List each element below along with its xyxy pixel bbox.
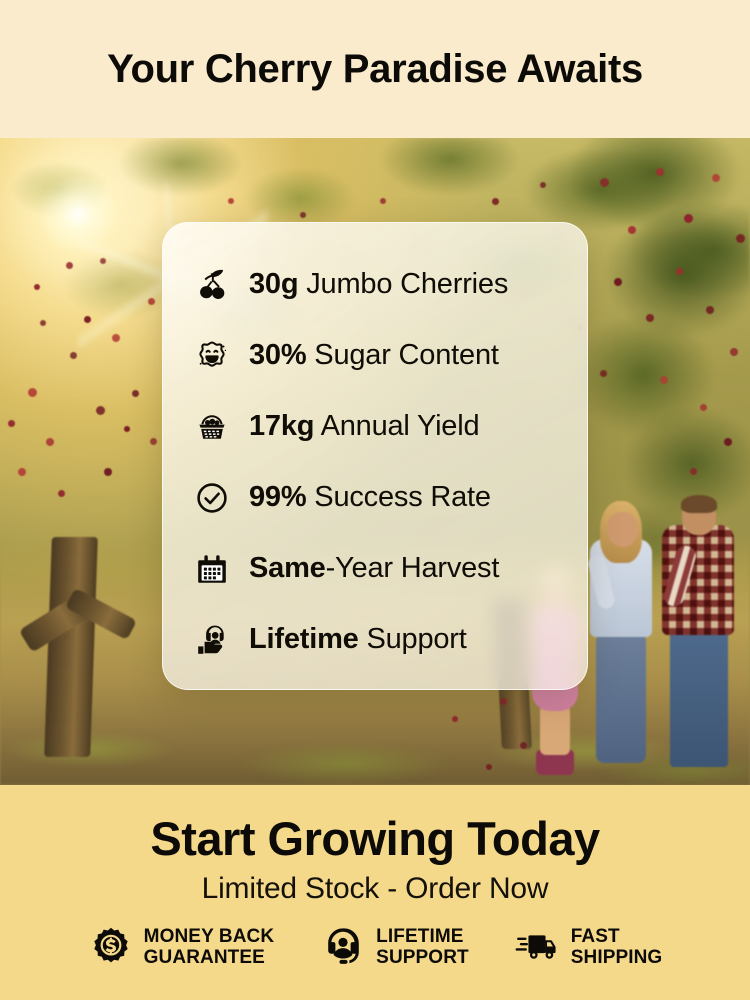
cherry-dot [40,320,46,326]
badge-label: LIFETIME SUPPORT [376,926,469,969]
money-badge-icon [88,924,134,970]
headset-icon [320,924,366,970]
badge-line1: FAST [571,926,620,947]
cherry-dot [492,198,499,205]
cherry-dot [730,348,738,356]
badge-line1: LIFETIME [376,926,463,947]
woman-head [607,512,638,547]
feature-label: Jumbo Cherries [298,268,508,300]
badge-line2: SHIPPING [571,947,663,968]
cherry-dot [34,284,40,290]
cherry-dot [452,716,458,722]
cherry-dot [486,764,492,770]
badge-lifetime-support: LIFETIME SUPPORT [320,924,469,970]
cherry-dot [724,438,732,446]
badge-line2: SUPPORT [376,947,469,968]
cherry-dot [520,742,527,749]
feature-text: 30g Jumbo Cherries [249,268,508,301]
smiling-cookie-icon [189,333,235,379]
cherry-dot [112,334,120,342]
cta-subtitle: Limited Stock - Order Now [202,872,549,906]
woman-legs [596,633,646,763]
feature-text: Same-Year Harvest [249,552,499,585]
feature-value: 30% [249,339,306,371]
cherry-dot [684,214,693,223]
cherry-dot [300,212,306,218]
cherry-dot [66,262,73,269]
cherry-dot [540,182,546,188]
cherry-dot [600,370,607,377]
feature-value: Lifetime [249,623,359,655]
cherry-dot [70,352,77,359]
cherry-dot [628,226,636,234]
feature-row-jumbo-cherries: 30g Jumbo Cherries [163,249,587,320]
feature-panel: 30g Jumbo Cherries [162,222,588,690]
cta-band: Start Growing Today Limited Stock - Orde… [0,785,750,1000]
cherry-dot [660,376,668,384]
cherry-dot [18,468,26,476]
cherry-dot [148,298,155,305]
trust-badges: MONEY BACK GUARANTEE LIFETIME SUPPORT [0,924,750,970]
cherries-icon [189,262,235,308]
man-legs [670,627,728,767]
cherry-dot [58,490,65,497]
cherry-dot [656,168,664,176]
orchard-photo: 30g Jumbo Cherries [0,138,750,785]
feature-row-lifetime-support: Lifetime Support [163,604,587,675]
cherry-dot [132,390,139,397]
cherry-dot [124,426,130,432]
check-circle-icon [189,475,235,521]
cherry-dot [700,404,707,411]
cherry-dot [614,278,622,286]
page-title: Your Cherry Paradise Awaits [107,47,643,92]
feature-value: 30g [249,268,298,300]
cherry-dot [380,198,386,204]
cherry-dot [8,420,15,427]
cherry-dot [28,388,37,397]
calendar-icon [189,546,235,592]
badge-label: FAST SHIPPING [571,926,663,969]
child-legs [540,705,570,755]
tree-trunk [44,537,98,757]
feature-row-success-rate: 99% Success Rate [163,462,587,533]
promo-poster: Your Cherry Paradise Awaits [0,0,750,1000]
cherry-dot [150,438,157,445]
support-hand-icon [189,617,235,663]
cherry-dot [100,258,106,264]
feature-label: Sugar Content [306,339,498,371]
cherry-dot [600,178,609,187]
feature-list: 30g Jumbo Cherries [163,249,587,675]
feature-value: 99% [249,481,306,513]
cherry-dot [84,316,91,323]
feature-label: Support [359,623,467,655]
badge-money-back-guarantee: MONEY BACK GUARANTEE [88,924,275,970]
badge-line2: GUARANTEE [144,947,275,968]
cherry-dot [104,468,112,476]
feature-text: 99% Success Rate [249,481,491,514]
feature-label: -Year Harvest [326,552,500,584]
fruit-basket-icon [189,404,235,450]
cherry-dot [500,698,507,705]
badge-fast-shipping: FAST SHIPPING [515,924,663,970]
feature-row-annual-yield: 17kg Annual Yield [163,391,587,462]
delivery-truck-icon [515,924,561,970]
badge-label: MONEY BACK GUARANTEE [144,926,275,969]
feature-row-sugar-content: 30% Sugar Content [163,320,587,391]
badge-line1: MONEY BACK [144,926,275,947]
feature-text: 17kg Annual Yield [249,410,479,443]
header-band: Your Cherry Paradise Awaits [0,0,750,138]
feature-value: Same [249,552,326,584]
cherry-dot [712,174,720,182]
cherry-dot [706,306,714,314]
man-hair [681,495,717,513]
feature-label: Annual Yield [314,410,479,442]
feature-row-same-year-harvest: Same-Year Harvest [163,533,587,604]
cta-title: Start Growing Today [150,811,599,866]
feature-text: 30% Sugar Content [249,339,499,372]
cherry-dot [46,438,54,446]
cherry-dot [96,406,105,415]
feature-value: 17kg [249,410,314,442]
cherry-dot [228,198,234,204]
feature-label: Success Rate [306,481,490,513]
cherry-dot [676,268,683,275]
feature-text: Lifetime Support [249,623,467,656]
cherry-dot [736,234,745,243]
cherry-dot [646,314,654,322]
